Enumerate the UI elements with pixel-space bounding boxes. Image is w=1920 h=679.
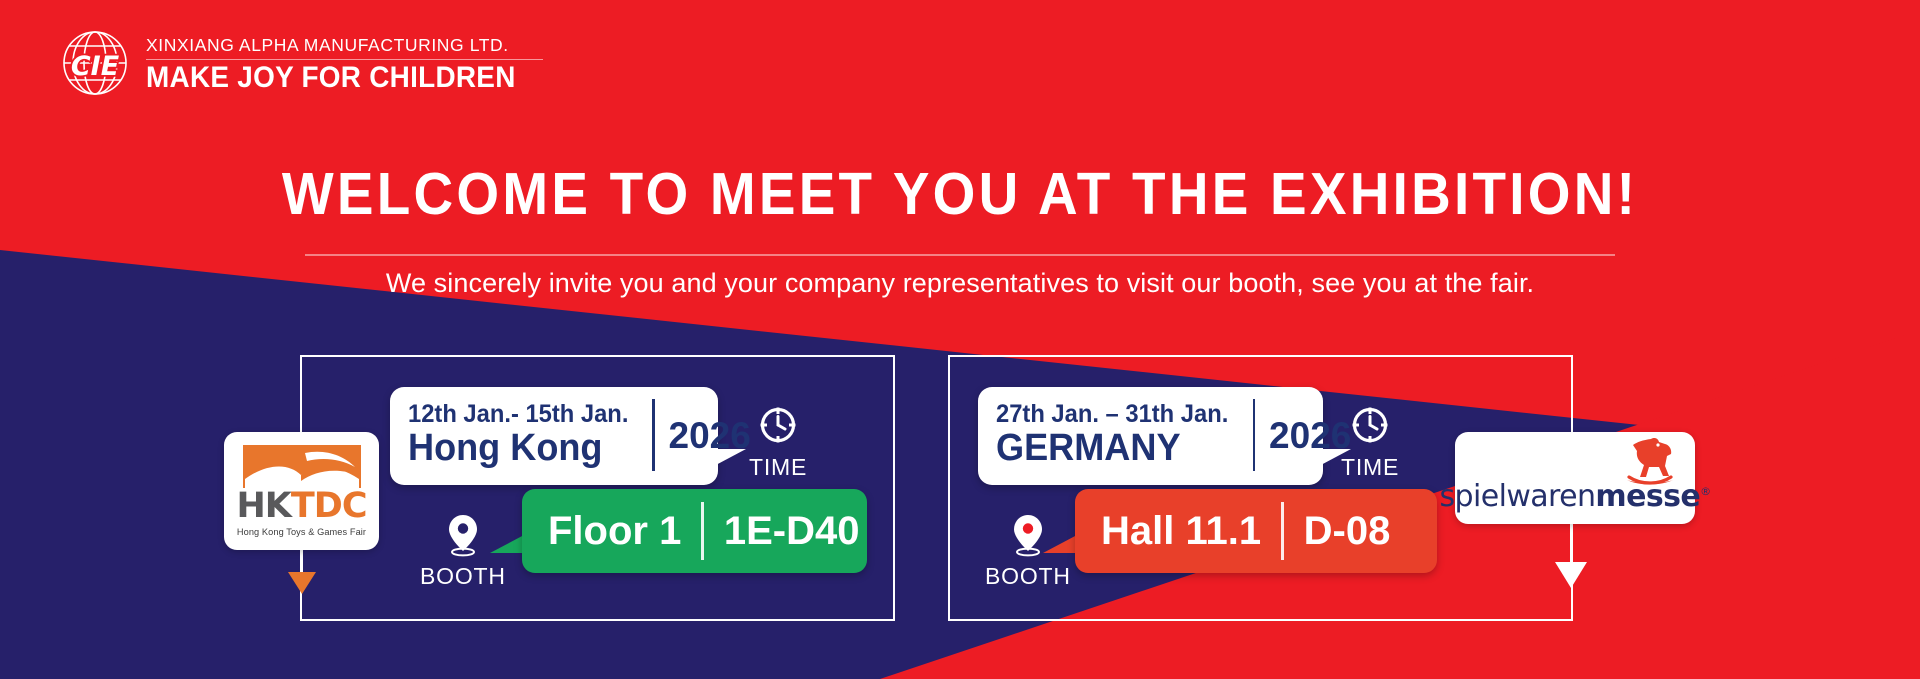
map-pin-icon <box>1010 513 1046 562</box>
rocking-horse-icon <box>1621 436 1677 488</box>
banner-root: CIE XINXIANG ALPHA MANUFACTURING LTD. MA… <box>0 0 1920 679</box>
booth-number: D-08 <box>1304 511 1391 551</box>
date-card-tail-left <box>714 449 746 466</box>
booth-bar-germany: Hall 11.1 D-08 <box>1075 489 1437 573</box>
booth-bar-hongkong: Floor 1 1E-D40 <box>522 489 867 573</box>
spielwarenmesse-connector-arrow <box>1555 562 1587 588</box>
event-date-card-germany: 27th Jan. – 31th Jan. GERMANY 2026 <box>978 387 1323 485</box>
booth-bar-divider <box>701 502 704 560</box>
time-label: TIME <box>1341 454 1399 481</box>
hktdc-logo: HKTDC Hong Kong Toys & Games Fair <box>224 432 379 550</box>
booth-location: Floor 1 <box>548 511 681 551</box>
clock-icon <box>757 404 799 451</box>
booth-label: BOOTH <box>420 563 506 590</box>
map-pin-icon <box>445 513 481 562</box>
svg-text:CIE: CIE <box>71 51 120 82</box>
page-subtitle: We sincerely invite you and your company… <box>0 268 1920 299</box>
date-divider <box>1253 399 1256 471</box>
booth-bar-divider <box>1281 502 1284 560</box>
booth-number: 1E-D40 <box>724 511 860 551</box>
hktdc-book-artwork <box>243 445 361 488</box>
hktdc-tdc-text: TDC <box>291 489 367 524</box>
clock-icon <box>1349 404 1391 451</box>
event-date-range: 12th Jan.- 15th Jan. <box>408 402 628 428</box>
event-date-range: 27th Jan. – 31th Jan. <box>996 402 1228 428</box>
spielwarenmesse-connector-stem <box>1570 520 1573 565</box>
spielwarenmesse-word-light: spielwaren <box>1440 479 1596 514</box>
event-city: GERMANY <box>996 429 1228 468</box>
brand-divider <box>146 59 543 61</box>
registered-mark: ® <box>1700 485 1710 498</box>
date-divider <box>652 399 655 471</box>
event-city: Hong Kong <box>408 429 628 468</box>
page-title: WELCOME TO MEET YOU AT THE EXHIBITION! <box>67 160 1853 228</box>
time-block-hongkong: TIME <box>749 404 807 481</box>
booth-bar-tail-left <box>490 535 524 553</box>
brand-tagline: MAKE JOY FOR CHILDREN <box>146 63 516 93</box>
spielwarenmesse-logo: spielwarenmesse® <box>1455 432 1695 524</box>
event-year: 2026 <box>669 417 751 454</box>
time-label: TIME <box>749 454 807 481</box>
brand-lockup: CIE XINXIANG ALPHA MANUFACTURING LTD. MA… <box>58 26 543 100</box>
globe-cie-icon: CIE <box>58 26 132 100</box>
booth-bar-tail-right <box>1043 535 1077 553</box>
hktdc-caption: Hong Kong Toys & Games Fair <box>237 527 366 537</box>
company-name: XINXIANG ALPHA MANUFACTURING LTD. <box>146 35 543 55</box>
brand-text: XINXIANG ALPHA MANUFACTURING LTD. MAKE J… <box>146 33 543 94</box>
booth-location: Hall 11.1 <box>1101 511 1261 551</box>
event-date-card-hongkong: 12th Jan.- 15th Jan. Hong Kong 2026 <box>390 387 718 485</box>
hktdc-hk-text: HK <box>236 489 290 524</box>
event-year: 2026 <box>1269 417 1351 454</box>
time-block-germany: TIME <box>1341 404 1399 481</box>
hktdc-connector-arrow <box>288 572 316 594</box>
headline-divider <box>305 254 1615 256</box>
booth-label: BOOTH <box>985 563 1071 590</box>
